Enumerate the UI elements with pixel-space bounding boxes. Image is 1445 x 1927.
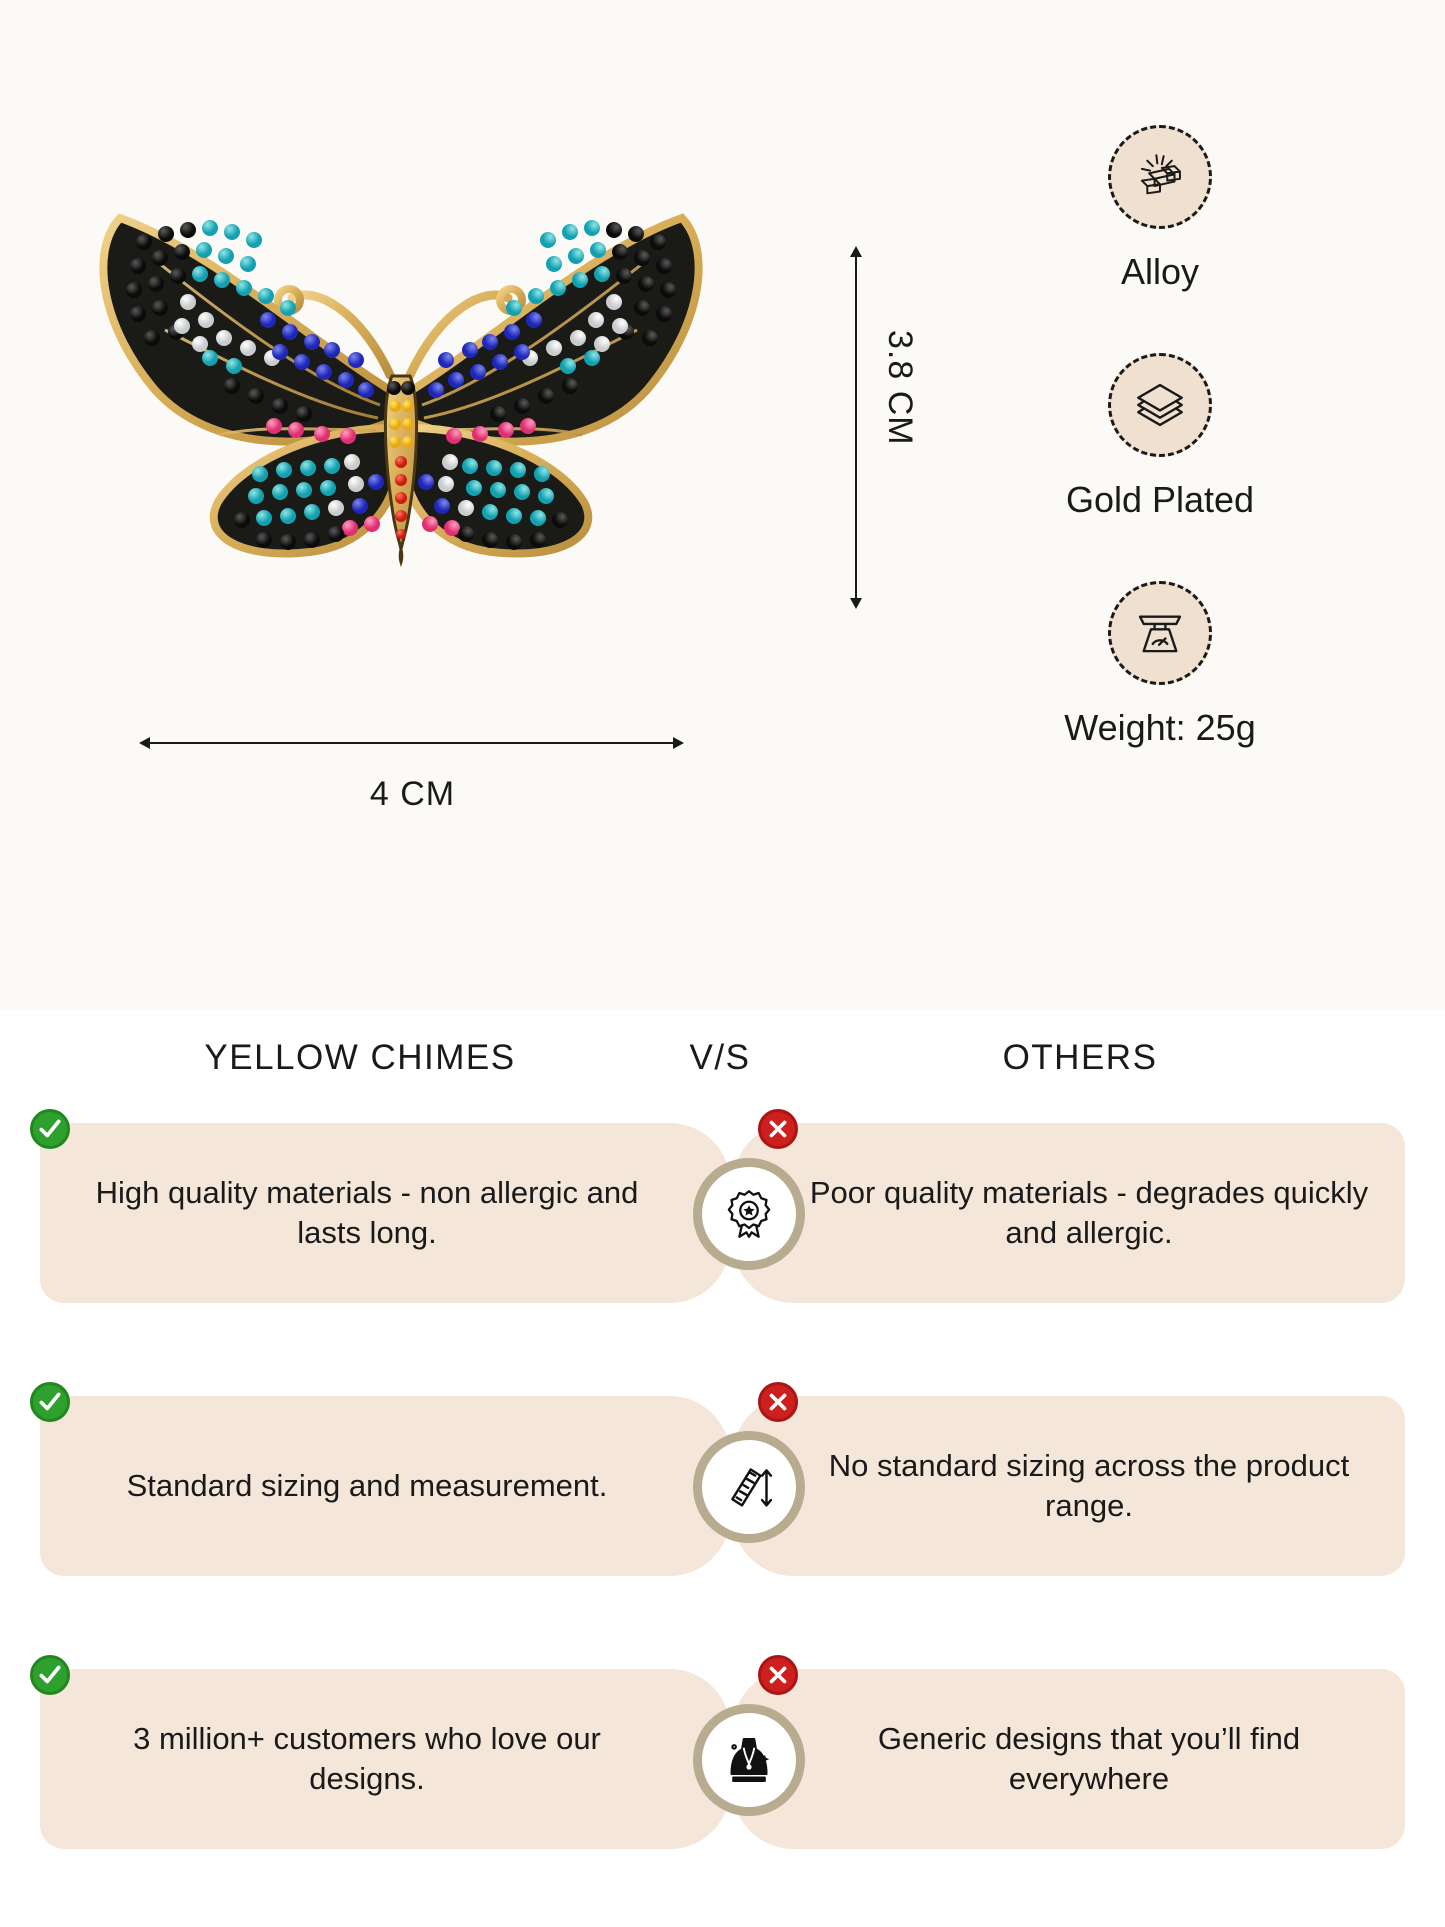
header-yellow-chimes: YELLOW CHIMES [40,1038,680,1078]
comparison-header: YELLOW CHIMES V/S OTHERS [0,1010,1445,1105]
check-icon [30,1655,70,1695]
comparison-text-others: Generic designs that you’ll find everywh… [767,1719,1371,1798]
cross-icon [758,1655,798,1695]
comparison-section: YELLOW CHIMES V/S OTHERS High quality ma… [0,1010,1445,1927]
comparison-row: 3 million+ customers who love our design… [0,1651,1445,1876]
spec-list: Alloy Gold Plated [1010,125,1310,749]
weighing-scale-icon [1108,581,1212,685]
product-showcase-section: 3.8 CM 4 CM Alloy [0,0,1445,1010]
comparison-card-ours: 3 million+ customers who love our design… [40,1669,730,1849]
height-dimension-label: 3.8 CM [880,330,919,446]
butterfly-brooch-illustration [60,190,740,610]
jewelry-bust-icon [693,1704,805,1816]
spec-item-weight: Weight: 25g [1064,581,1255,749]
product-image [60,190,740,610]
width-dimension-label: 4 CM [0,775,825,814]
layers-icon [1108,353,1212,457]
spec-label-alloy: Alloy [1121,251,1199,293]
spec-label-gold-plated: Gold Plated [1066,479,1254,521]
ruler-measure-icon [693,1431,805,1543]
comparison-text-ours: High quality materials - non allergic an… [74,1173,696,1252]
spec-item-gold-plated: Gold Plated [1066,353,1254,521]
check-icon [30,1382,70,1422]
comparison-row: Standard sizing and measurement. No stan… [0,1378,1445,1603]
width-dimension-arrow [148,742,675,744]
quality-badge-icon [693,1158,805,1270]
comparison-card-ours: Standard sizing and measurement. [40,1396,730,1576]
height-dimension-arrow [855,255,857,600]
comparison-row: High quality materials - non allergic an… [0,1105,1445,1330]
cross-icon [758,1382,798,1422]
comparison-card-others: Generic designs that you’ll find everywh… [733,1669,1405,1849]
spec-label-weight: Weight: 25g [1064,707,1255,749]
gold-bars-icon [1108,125,1212,229]
comparison-text-ours: Standard sizing and measurement. [127,1466,644,1506]
comparison-card-ours: High quality materials - non allergic an… [40,1123,730,1303]
cross-icon [758,1109,798,1149]
spec-item-alloy: Alloy [1108,125,1212,293]
comparison-card-others: Poor quality materials - degrades quickl… [733,1123,1405,1303]
comparison-card-others: No standard sizing across the product ra… [733,1396,1405,1576]
comparison-text-others: Poor quality materials - degrades quickl… [767,1173,1371,1252]
header-others: OTHERS [760,1038,1400,1078]
comparison-text-ours: 3 million+ customers who love our design… [74,1719,696,1798]
comparison-text-others: No standard sizing across the product ra… [767,1446,1371,1525]
check-icon [30,1109,70,1149]
